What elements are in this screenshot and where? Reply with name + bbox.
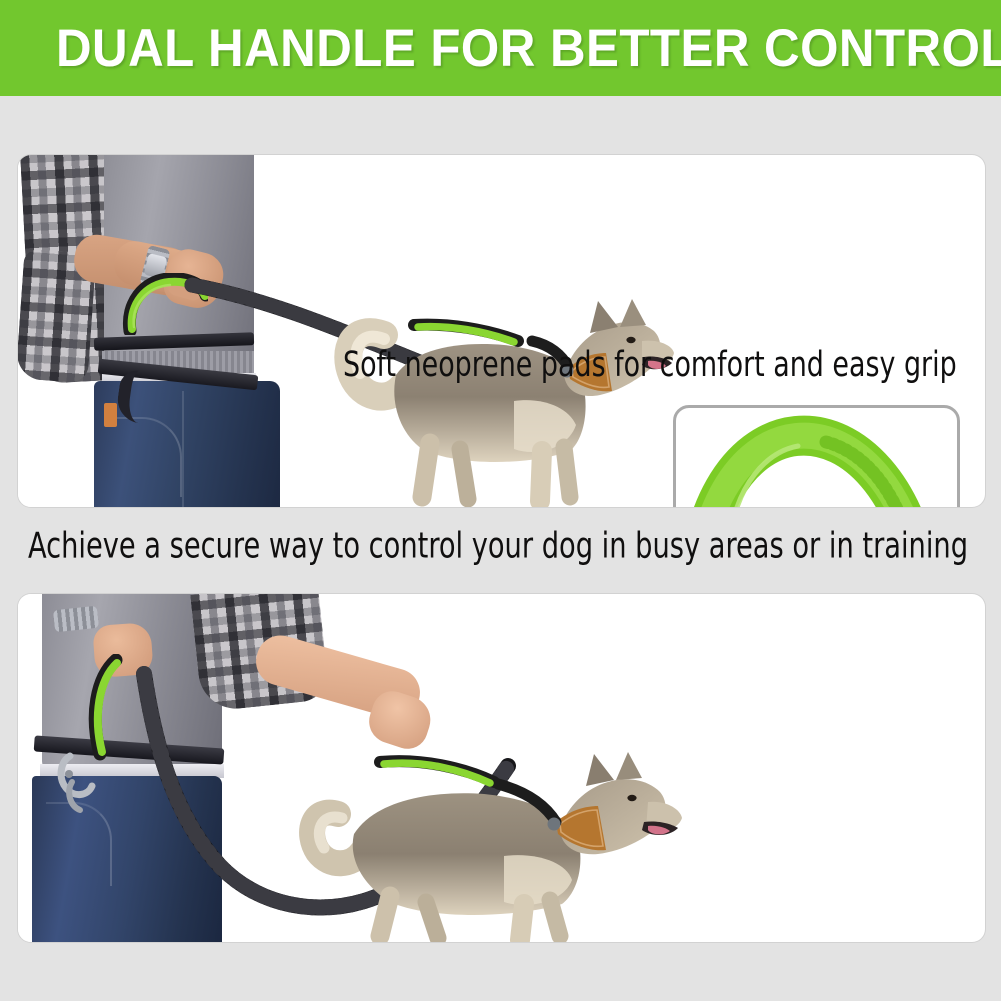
header-banner: DUAL HANDLE FOR BETTER CONTROL xyxy=(0,0,1001,96)
wristwatch-band xyxy=(53,606,99,632)
page-title: DUAL HANDLE FOR BETTER CONTROL xyxy=(56,21,1001,77)
handle-loop-icon xyxy=(676,408,957,507)
jeans-pocket xyxy=(46,802,112,886)
infographic-root: DUAL HANDLE FOR BETTER CONTROL xyxy=(0,0,1001,1001)
caption-middle: Achieve a secure way to control your dog… xyxy=(28,525,968,566)
photo-man-walking-dog xyxy=(18,155,678,507)
feature-panel-top: Soft neoprene pads for comfort and easy … xyxy=(18,155,985,507)
product-inset-handle-closeup xyxy=(673,405,960,507)
dog-illustration xyxy=(298,710,690,942)
jeans-tag xyxy=(104,403,117,427)
feature-panel-bottom: Pull dog back on track without breaking … xyxy=(18,594,985,942)
caption-top: Soft neoprene pads for comfort and easy … xyxy=(343,345,957,385)
photo-man-pulling-dog-back xyxy=(18,594,690,942)
dog-illustration xyxy=(318,283,678,507)
